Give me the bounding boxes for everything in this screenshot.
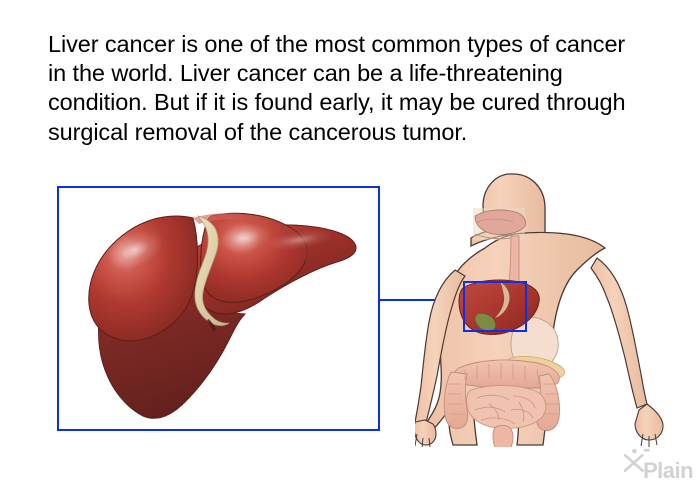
page-title: Liver cancer is one of the most common t… (48, 30, 628, 147)
human-body-diagram (415, 172, 665, 447)
left-hand (415, 420, 436, 447)
xplain-logo-text: -Plain (643, 438, 696, 480)
liver-location-highlight-box (463, 281, 527, 332)
right-arm (591, 258, 647, 408)
torso-digestive-illustration (415, 172, 665, 447)
rectum (493, 425, 513, 447)
small-intestine (467, 386, 546, 429)
ascending-colon (444, 372, 468, 429)
slide-canvas: Liver cancer is one of the most common t… (0, 0, 700, 480)
mouth-and-tongue (473, 208, 526, 240)
liver-illustration (59, 188, 378, 429)
xplain-logo: -Plain (624, 446, 696, 474)
liver-callout-panel (57, 186, 380, 431)
xplain-figure-icon (624, 448, 644, 472)
